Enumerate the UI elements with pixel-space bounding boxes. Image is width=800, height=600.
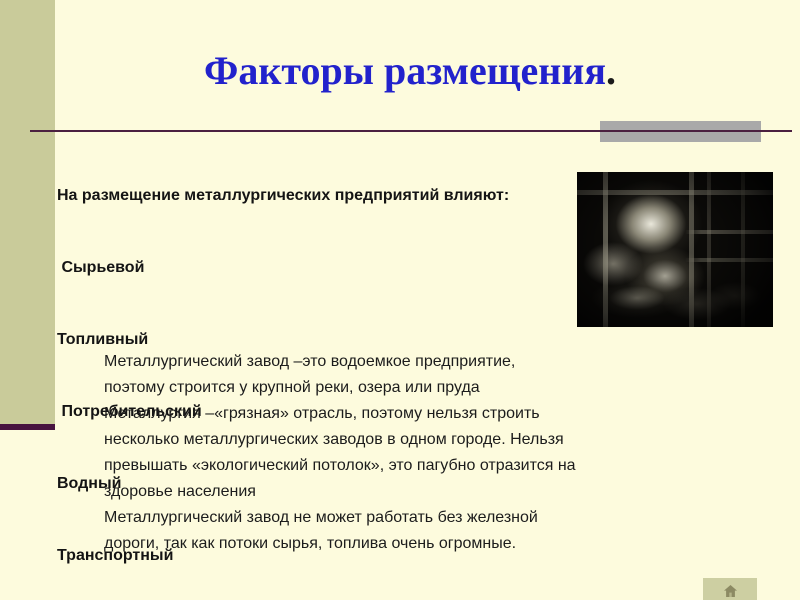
slide-canvas: Факторы размещения. На размещение металл…	[0, 0, 800, 600]
left-decor-band-foot	[0, 424, 55, 430]
left-decor-band	[0, 0, 55, 424]
page-title: Факторы размещения.	[60, 48, 760, 94]
factor-list-intro: На размещение металлургических предприят…	[57, 184, 577, 208]
photo-vignette	[577, 172, 773, 327]
page-title-text: Факторы размещения	[204, 48, 606, 93]
metallurgical-plant-photo	[577, 172, 773, 327]
home-button[interactable]	[703, 578, 757, 600]
list-item: Сырьевой	[57, 256, 577, 280]
page-title-period: .	[606, 48, 616, 93]
home-icon	[723, 584, 738, 598]
body-paragraph: Металлургический завод –это водоемкое пр…	[104, 349, 684, 557]
header-divider	[30, 130, 792, 132]
